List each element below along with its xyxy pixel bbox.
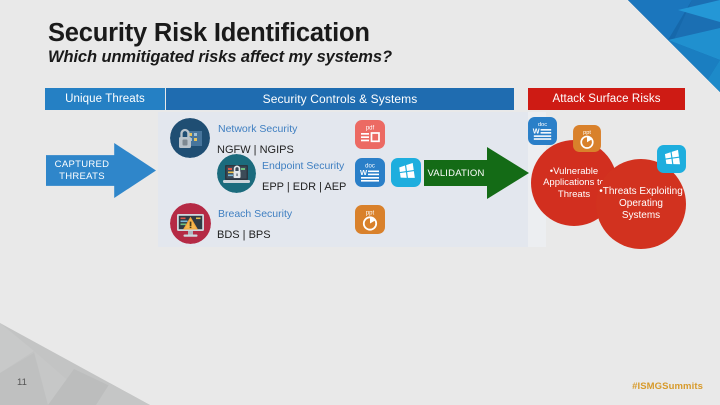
control-title-breach-security: Breach Security	[218, 208, 292, 220]
captured-threats-arrow: CAPTURED THREATS	[46, 143, 156, 198]
band-attack-surface-risks: Attack Surface Risks	[528, 88, 685, 110]
page-subtitle: Which unmitigated risks affect my system…	[48, 48, 392, 67]
windows-logo-icon	[657, 145, 686, 173]
bottom-left-corner-decoration	[0, 323, 150, 405]
pdf-file-icon: pdf	[355, 120, 385, 149]
band-security-controls-label: Security Controls & Systems	[263, 92, 418, 106]
band-attack-surface-risks-label: Attack Surface Risks	[552, 93, 660, 105]
svg-text:ppt: ppt	[583, 130, 591, 136]
band-security-controls: Security Controls & Systems	[166, 88, 514, 110]
band-unique-threats-label: Unique Threats	[65, 93, 145, 105]
control-subtitle-breach-security: BDS | BPS	[217, 229, 271, 241]
page-title: Security Risk Identification	[48, 19, 370, 48]
band-unique-threats: Unique Threats	[45, 88, 165, 110]
captured-threats-line1: CAPTURED	[48, 159, 116, 171]
ppt-file-icon: ppt	[573, 125, 601, 152]
top-right-corner-decoration	[560, 0, 720, 92]
svg-text:W: W	[360, 168, 368, 177]
control-title-endpoint-security: Endpoint Security	[262, 160, 344, 172]
control-subtitle-network-security: NGFW | NGIPS	[217, 144, 294, 156]
validation-label: VALIDATION	[424, 168, 488, 179]
control-title-network-security: Network Security	[218, 123, 297, 135]
monitor-warning-icon	[170, 203, 211, 244]
laptop-lock-icon	[217, 154, 256, 193]
svg-text:W: W	[533, 126, 540, 135]
windows-logo-icon	[391, 158, 421, 187]
svg-text:pdf: pdf	[366, 126, 375, 132]
captured-threats-line2: THREATS	[48, 171, 116, 183]
slide-number: 11	[17, 377, 27, 388]
padlock-network-icon	[170, 118, 210, 158]
doc-file-icon: doc W	[528, 117, 557, 145]
ppt-file-icon: ppt	[355, 205, 385, 234]
svg-text:ppt: ppt	[366, 211, 375, 217]
control-subtitle-endpoint-security: EPP | EDR | AEP	[262, 181, 346, 193]
doc-file-icon: doc W	[355, 158, 385, 187]
event-hashtag: #ISMGSummits	[632, 381, 703, 392]
risk-text-threats-exploiting-os: •Threats Exploiting Operating Systems	[596, 186, 686, 222]
